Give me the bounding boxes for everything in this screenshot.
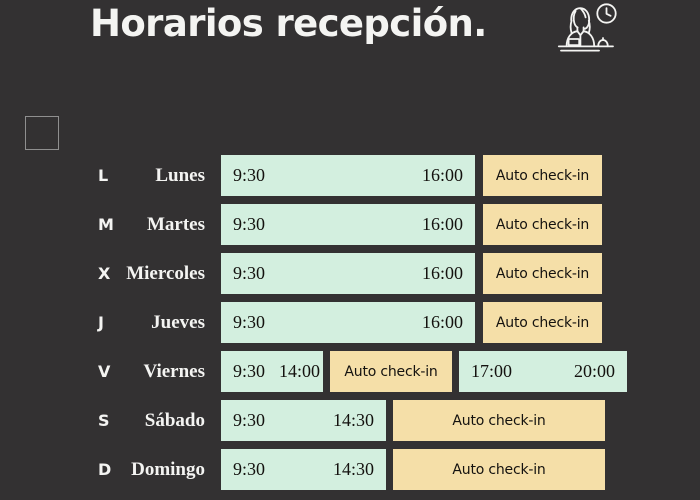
auto-checkin-label: Auto check-in — [496, 266, 589, 282]
open-hours-cell[interactable]: 9:3016:00 — [221, 204, 475, 245]
open-hours-cell[interactable]: 9:3014:30 — [221, 449, 386, 490]
day-name: Lunes — [80, 155, 205, 196]
day-name: Viernes — [80, 351, 205, 392]
auto-checkin-label: Auto check-in — [452, 413, 545, 429]
auto-checkin-cell[interactable]: Auto check-in — [393, 449, 605, 490]
auto-checkin-label: Auto check-in — [496, 315, 589, 331]
open-time: 9:30 — [233, 312, 265, 333]
auto-checkin-label: Auto check-in — [452, 462, 545, 478]
receptionist-desk-clock-icon — [549, 2, 623, 54]
day-name: Jueves — [80, 302, 205, 343]
open-time: 9:30 — [233, 214, 265, 235]
schedule-row: VViernes9:3014:00Auto check-in17:0020:00 — [0, 351, 700, 392]
open-time: 17:00 — [471, 361, 512, 382]
open-hours-cell[interactable]: 9:3016:00 — [221, 302, 475, 343]
open-time: 9:30 — [233, 165, 265, 186]
schedule-row: DDomingo9:3014:30Auto check-in — [0, 449, 700, 490]
day-cells: 9:3016:00Auto check-in — [221, 253, 700, 294]
open-time: 9:30 — [233, 459, 265, 480]
open-time: 9:30 — [233, 263, 265, 284]
placeholder-square — [25, 116, 59, 150]
schedule-row: LLunes9:3016:00Auto check-in — [0, 155, 700, 196]
close-time: 16:00 — [422, 263, 463, 284]
day-cells: 9:3016:00Auto check-in — [221, 302, 700, 343]
open-hours-cell[interactable]: 9:3016:00 — [221, 155, 475, 196]
day-cells: 9:3014:30Auto check-in — [221, 400, 700, 441]
open-hours-cell[interactable]: 9:3014:30 — [221, 400, 386, 441]
schedule-table: LLunes9:3016:00Auto check-inMMartes9:301… — [0, 155, 700, 498]
close-time: 16:00 — [422, 312, 463, 333]
schedule-row: SSábado9:3014:30Auto check-in — [0, 400, 700, 441]
page-title: Horarios recepción. — [90, 0, 487, 48]
open-hours-cell[interactable]: 9:3016:00 — [221, 253, 475, 294]
schedule-row: JJueves9:3016:00Auto check-in — [0, 302, 700, 343]
close-time: 16:00 — [422, 214, 463, 235]
day-cells: 9:3014:00Auto check-in17:0020:00 — [221, 351, 700, 392]
auto-checkin-cell[interactable]: Auto check-in — [483, 155, 602, 196]
auto-checkin-cell[interactable]: Auto check-in — [483, 204, 602, 245]
auto-checkin-cell[interactable]: Auto check-in — [483, 253, 602, 294]
open-time: 9:30 — [233, 361, 265, 382]
day-name: Sábado — [80, 400, 205, 441]
close-time: 14:30 — [333, 459, 374, 480]
day-cells: 9:3014:30Auto check-in — [221, 449, 700, 490]
auto-checkin-label: Auto check-in — [496, 168, 589, 184]
auto-checkin-cell[interactable]: Auto check-in — [393, 400, 605, 441]
auto-checkin-cell[interactable]: Auto check-in — [330, 351, 452, 392]
close-time: 14:30 — [333, 410, 374, 431]
auto-checkin-label: Auto check-in — [344, 364, 437, 380]
open-time: 9:30 — [233, 410, 265, 431]
close-time: 20:00 — [574, 361, 615, 382]
close-time: 14:00 — [279, 361, 320, 382]
schedule-row: MMartes9:3016:00Auto check-in — [0, 204, 700, 245]
open-hours-cell[interactable]: 17:0020:00 — [459, 351, 627, 392]
day-name: Domingo — [80, 449, 205, 490]
day-cells: 9:3016:00Auto check-in — [221, 204, 700, 245]
schedule-page: Horarios recepción. — [0, 0, 700, 500]
close-time: 16:00 — [422, 165, 463, 186]
open-hours-cell[interactable]: 9:3014:00 — [221, 351, 323, 392]
auto-checkin-label: Auto check-in — [496, 217, 589, 233]
auto-checkin-cell[interactable]: Auto check-in — [483, 302, 602, 343]
day-name: Miercoles — [80, 253, 205, 294]
day-name: Martes — [80, 204, 205, 245]
day-cells: 9:3016:00Auto check-in — [221, 155, 700, 196]
schedule-row: XMiercoles9:3016:00Auto check-in — [0, 253, 700, 294]
